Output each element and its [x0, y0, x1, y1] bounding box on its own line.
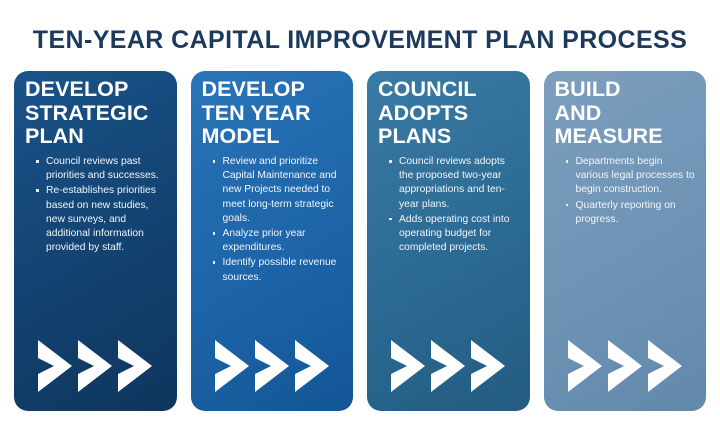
step-heading: BUILD AND MEASURE [555, 78, 697, 149]
step-bullet-list: Council reviews adopts the proposed two-… [377, 155, 520, 255]
triple-chevron-right-icon [367, 338, 530, 394]
bullet-point-icon [36, 189, 39, 192]
infographic-canvas: TEN-YEAR CAPITAL IMPROVEMENT PLAN PROCES… [0, 0, 720, 429]
step-bullet-list: Council reviews past priorities and succ… [24, 155, 167, 255]
bullet-point-icon [213, 232, 216, 235]
list-item: Council reviews adopts the proposed two-… [389, 155, 520, 212]
list-item: Council reviews past priorities and succ… [36, 155, 167, 183]
step-heading: COUNCIL ADOPTS PLANS [378, 78, 520, 149]
bullet-text: Adds operating cost into operating budge… [399, 214, 509, 253]
bullet-point-icon [389, 160, 392, 163]
bullet-point-icon [389, 218, 392, 221]
bullet-point-icon [213, 160, 216, 163]
bullet-text: Council reviews adopts the proposed two-… [399, 156, 505, 210]
list-item: Analyze prior year expenditures. [213, 227, 344, 255]
bullet-text: Departments begin various legal processe… [576, 156, 695, 195]
triple-chevron-right-icon [544, 338, 707, 394]
list-item: Re-establishes priorities based on new s… [36, 184, 167, 255]
process-step-card-2[interactable]: DEVELOP TEN YEAR MODEL Review and priori… [191, 71, 354, 411]
step-heading: DEVELOP STRATEGIC PLAN [25, 78, 167, 149]
bullet-point-icon [566, 204, 569, 207]
bullet-text: Analyze prior year expenditures. [223, 228, 306, 253]
page-title: TEN-YEAR CAPITAL IMPROVEMENT PLAN PROCES… [0, 26, 720, 55]
list-item: Adds operating cost into operating budge… [389, 213, 520, 256]
process-step-card-1[interactable]: DEVELOP STRATEGIC PLAN Council reviews p… [14, 71, 177, 411]
bullet-text: Re-establishes priorities based on new s… [46, 185, 156, 253]
process-step-card-4[interactable]: BUILD AND MEASURE Departments begin vari… [544, 71, 707, 411]
bullet-text: Quarterly reporting on progress. [576, 200, 676, 225]
step-heading: DEVELOP TEN YEAR MODEL [202, 78, 344, 149]
process-step-card-3[interactable]: COUNCIL ADOPTS PLANS Council reviews ado… [367, 71, 530, 411]
bullet-text: Council reviews past priorities and succ… [46, 156, 159, 181]
step-bullet-list: Departments begin various legal processe… [554, 155, 697, 227]
triple-chevron-right-icon [191, 338, 354, 394]
bullet-point-icon [36, 160, 39, 163]
list-item: Quarterly reporting on progress. [566, 199, 697, 227]
bullet-text: Review and prioritize Capital Maintenanc… [223, 156, 337, 224]
bullet-point-icon [566, 160, 569, 163]
step-bullet-list: Review and prioritize Capital Maintenanc… [201, 155, 344, 285]
list-item: Review and prioritize Capital Maintenanc… [213, 155, 344, 226]
bullet-point-icon [213, 261, 216, 264]
process-steps-row: DEVELOP STRATEGIC PLAN Council reviews p… [14, 71, 706, 411]
list-item: Departments begin various legal processe… [566, 155, 697, 198]
list-item: Identify possible revenue sources. [213, 256, 344, 284]
triple-chevron-right-icon [14, 338, 177, 394]
bullet-text: Identify possible revenue sources. [223, 257, 337, 282]
